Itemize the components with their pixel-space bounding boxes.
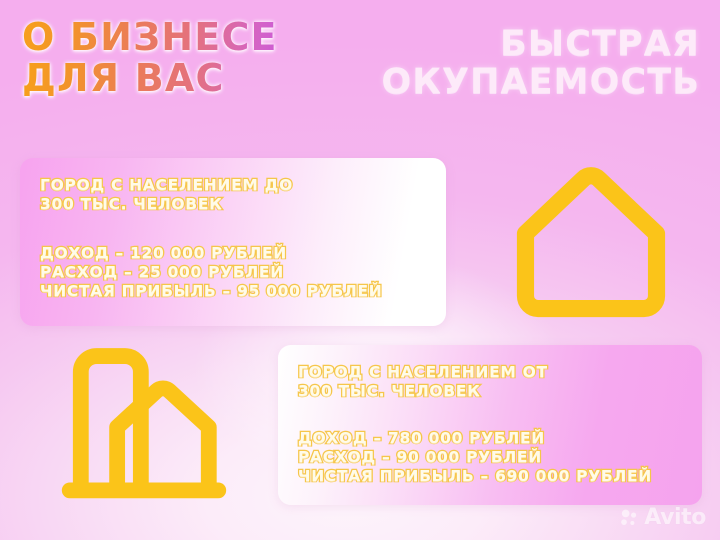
card-stat-income: ДОХОД – 780 000 РУБЛЕЙ xyxy=(298,429,682,448)
headline-right-line2: ОКУПАЕМОСТЬ xyxy=(280,66,700,99)
card-title-line2: 300 ТЫС. ЧЕЛОВЕК xyxy=(40,195,426,214)
card-stat-income: ДОХОД – 120 000 РУБЛЕЙ xyxy=(40,244,426,263)
card-title-line1: ГОРОД С НАСЕЛЕНИЕМ ОТ xyxy=(298,363,682,382)
card-stat-expense: РАСХОД – 25 000 РУБЛЕЙ xyxy=(40,263,426,282)
info-card-large-city: ГОРОД С НАСЕЛЕНИЕМ ОТ 300 ТЫС. ЧЕЛОВЕК Д… xyxy=(278,345,702,505)
card-title: ГОРОД С НАСЕЛЕНИЕМ ОТ 300 ТЫС. ЧЕЛОВЕК xyxy=(298,363,682,401)
house-icon xyxy=(512,165,670,321)
poster-canvas: О БИЗНЕСЕ ДЛЯ ВАС БЫСТРАЯ ОКУПАЕМОСТЬ ГО… xyxy=(0,0,720,540)
card-stat-profit: ЧИСТАЯ ПРИБЫЛЬ – 690 000 РУБЛЕЙ xyxy=(298,467,682,486)
card-stats: ДОХОД – 780 000 РУБЛЕЙ РАСХОД – 90 000 Р… xyxy=(298,429,682,487)
buildings-icon xyxy=(58,345,230,503)
headline-right: БЫСТРАЯ ОКУПАЕМОСТЬ xyxy=(280,28,700,100)
card-stats: ДОХОД – 120 000 РУБЛЕЙ РАСХОД – 25 000 Р… xyxy=(40,244,426,302)
avito-watermark-text: Avito xyxy=(644,505,706,530)
card-stat-profit: ЧИСТАЯ ПРИБЫЛЬ – 95 000 РУБЛЕЙ xyxy=(40,282,426,301)
avito-logo-icon xyxy=(619,508,639,528)
info-card-small-city: ГОРОД С НАСЕЛЕНИЕМ ДО 300 ТЫС. ЧЕЛОВЕК Д… xyxy=(20,158,446,326)
card-title-line1: ГОРОД С НАСЕЛЕНИЕМ ДО xyxy=(40,176,426,195)
avito-watermark: Avito xyxy=(619,505,706,530)
card-title-line2: 300 ТЫС. ЧЕЛОВЕК xyxy=(298,382,682,401)
headline-right-line1: БЫСТРАЯ xyxy=(280,28,700,61)
card-stat-expense: РАСХОД – 90 000 РУБЛЕЙ xyxy=(298,448,682,467)
card-title: ГОРОД С НАСЕЛЕНИЕМ ДО 300 ТЫС. ЧЕЛОВЕК xyxy=(40,176,426,214)
